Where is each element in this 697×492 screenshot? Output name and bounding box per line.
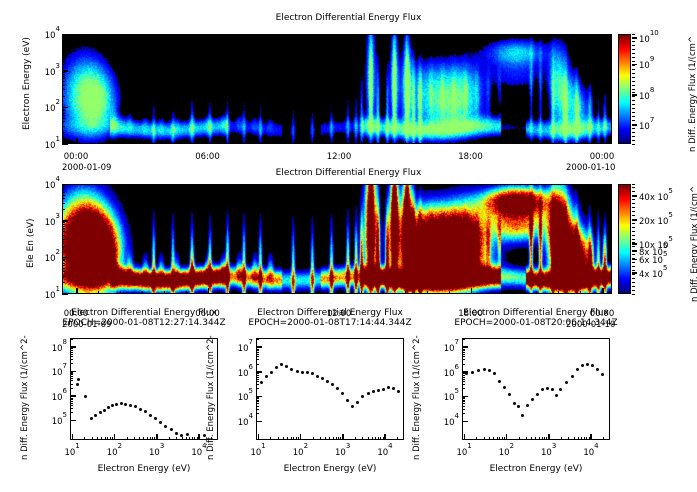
spectrum-2-data-point (521, 414, 524, 417)
spectrum-1-yminor (256, 349, 259, 350)
x-axis-minor-tick (471, 141, 472, 144)
x-axis-tick-label: 00:00 (585, 152, 619, 162)
spectrum-ylabel-1: n Diff. Energy Flux (1/(cm^2- (206, 335, 216, 460)
y-axis-minor-tick (62, 239, 65, 240)
spectrum-0-data-point (180, 434, 183, 437)
spectrum-1-ytick-label: 105 (226, 390, 253, 403)
spectrum-ylabel-2: n Diff. Energy Flux (1/(cm^2- (412, 335, 422, 460)
colorbar-minor-tick (632, 73, 635, 74)
colorbar-minor-tick (632, 227, 635, 228)
y-axis-tick (62, 294, 68, 296)
y-axis-minor-tick (62, 185, 65, 186)
x-axis-minor-tick (186, 291, 187, 294)
spectrum-0-data-point (107, 406, 110, 409)
spectrum-0-xminor (110, 437, 111, 440)
y-axis-minor-tick (62, 48, 65, 49)
spectrum-1-xtick (342, 434, 344, 440)
colorbar-minor-tick (632, 239, 635, 240)
spectrum-1-yminor (256, 398, 259, 399)
spectrum-0-ytick-label: 107 (40, 365, 67, 378)
x-axis-minor-tick (558, 141, 559, 144)
spectrum-0-xminor (143, 437, 144, 440)
x-axis-minor-tick (492, 141, 493, 144)
spectrum-2-xminor (535, 437, 536, 440)
spectrum-1-xtick-label: 103 (327, 445, 359, 458)
spectrum-0-xminor (147, 437, 148, 440)
spectrum-0-data-point (186, 433, 189, 436)
spectrum-1-xminor (372, 437, 373, 440)
spectrum-1-yminor (256, 339, 259, 340)
spectrum-0-yminor (70, 376, 73, 377)
colorbar-tick-label: 109 (639, 58, 654, 71)
spectrum-0-yminor (70, 372, 73, 373)
x-axis-tick-label: 06:00 (191, 152, 225, 162)
x-axis-minor-tick (580, 291, 581, 294)
colorbar-minor-tick (632, 77, 635, 78)
y-axis-minor-tick (62, 89, 65, 90)
spectrum-2-xtick-label: 104 (575, 445, 607, 458)
spectrum-0-data-point (90, 417, 93, 420)
colorbar-minor-tick (632, 57, 635, 58)
spectrum-2-xminor (568, 437, 569, 440)
spectrum-1-data-point (346, 399, 349, 402)
x-axis-minor-tick (449, 291, 450, 294)
spectrum-1-xminor (325, 437, 326, 440)
colorbar-minor-tick (632, 274, 635, 275)
spectrum-2-yminor (462, 400, 465, 401)
x-axis-minor-tick (514, 141, 515, 144)
spectrum-0-xminor (105, 437, 106, 440)
spectrum-0-xminor (92, 437, 93, 440)
spectrogram-top-ylabel: Electron Energy (eV) (22, 37, 32, 130)
spectrum-0-yminor (70, 354, 73, 355)
y-axis-minor-tick (62, 259, 65, 260)
spectrum-2-yminor (462, 350, 465, 351)
spectrum-0-xminor (112, 437, 113, 440)
spectrum-plot-0[interactable] (70, 338, 218, 440)
x-axis-minor-tick (142, 141, 143, 144)
spectrum-1-yminor (256, 400, 259, 401)
y-axis-minor-tick (62, 260, 65, 261)
spectrum-2-yminor (462, 381, 465, 382)
spectrum-1-yminor (256, 401, 259, 402)
spectrum-2-yminor (462, 413, 465, 414)
spectrum-0-xtick (156, 434, 158, 440)
x-axis-minor-tick (186, 141, 187, 144)
spectrum-2-yminor (462, 339, 465, 340)
spectrum-2-xminor (497, 437, 498, 440)
colorbar-minor-tick (632, 100, 635, 101)
spectrum-1-xminor (296, 437, 297, 440)
spectrum-0-data-point (170, 428, 173, 431)
spectrum-2-data-point (477, 369, 480, 372)
spectrum-0-yminor (70, 399, 73, 400)
spectrum-xlabel-0: Electron Energy (eV) (70, 464, 218, 474)
spectrum-2-xminor (531, 437, 532, 440)
spectrum-1-xtick (258, 434, 260, 440)
y-axis-tick-label: 103 (36, 215, 60, 228)
x-axis-minor-tick (602, 291, 603, 294)
spectrum-ylabel-0: n Diff. Energy Flux (1/(cm^2- (20, 335, 30, 460)
spectrum-1-yminor (256, 381, 259, 382)
colorbar-minor-tick (632, 120, 635, 121)
spectrum-2-yminor (462, 401, 465, 402)
colorbar-minor-tick (632, 231, 635, 232)
spectrum-1-xminor (340, 437, 341, 440)
colorbar-minor-tick (632, 184, 635, 185)
spectrogram-mid-plot[interactable] (62, 184, 612, 294)
colorbar-minor-tick (632, 215, 635, 216)
y-axis-minor-tick (62, 121, 65, 122)
y-axis-minor-tick (62, 110, 65, 111)
x-axis-minor-tick (295, 141, 296, 144)
spectrum-2-xminor (578, 437, 579, 440)
spectrum-xlabel-1: Electron Energy (eV) (256, 464, 404, 474)
spectrum-0-yminor (70, 352, 73, 353)
x-axis-minor-tick (514, 291, 515, 294)
x-axis-minor-tick (580, 141, 581, 144)
spectrum-1-xtick (384, 434, 386, 440)
spectrum-title-2: Electron Differential Energy Flux (394, 308, 678, 318)
spectrum-1-data-point (382, 388, 385, 391)
spectrum-1-yminor (256, 359, 259, 360)
spectrum-0-yminor (70, 339, 73, 340)
x-axis-minor-tick (164, 291, 165, 294)
x-axis-minor-tick (361, 291, 362, 294)
spectrum-1-xminor (287, 437, 288, 440)
spectrogram-top-plot[interactable] (62, 34, 612, 144)
colorbar-tick-label: 20x 105 (639, 214, 673, 227)
spectrum-0-yminor (70, 403, 73, 404)
spectrum-1-yminor (256, 347, 259, 348)
spectrum-0-xminor (150, 437, 151, 440)
y-axis-minor-tick (62, 265, 65, 266)
spectrum-2-yminor (462, 397, 465, 398)
spectrum-2-data-point (471, 371, 474, 374)
y-axis-minor-tick (62, 42, 65, 43)
spectrum-1-xminor (338, 437, 339, 440)
colorbar-minor-tick (632, 112, 635, 113)
colorbar-minor-tick (632, 89, 635, 90)
spectrum-0-xminor (84, 437, 85, 440)
spectrum-1-yminor (256, 352, 259, 353)
x-axis-minor-tick (76, 141, 77, 144)
spectrum-epoch-2: EPOCH=2000-01-08T20:06:14.344Z (394, 318, 678, 328)
spectrum-1-yminor (256, 354, 259, 355)
y-axis-minor-tick (62, 78, 65, 79)
spectrum-2-xtick-label: 101 (448, 445, 480, 458)
spectrum-2-xtick-label: 102 (490, 445, 522, 458)
spectrum-2-xtick (590, 434, 592, 440)
spectrum-0-data-point (76, 383, 79, 386)
x-axis-minor-tick (208, 141, 209, 144)
spectrum-1-data-point (321, 377, 324, 380)
spectrum-2-yminor (462, 398, 465, 399)
spectrum-2-xminor (561, 437, 562, 440)
x-axis-minor-tick (536, 141, 537, 144)
spectrum-2-yminor (462, 403, 465, 404)
spectrogram-mid-colorbar (618, 184, 631, 294)
x-axis-minor-tick (273, 291, 274, 294)
x-axis-minor-tick (339, 141, 340, 144)
spectrum-2-data-point (591, 364, 594, 367)
y-axis-minor-tick (62, 85, 65, 86)
spectrum-2-xminor (603, 437, 604, 440)
y-axis-minor-tick (62, 126, 65, 127)
spectrum-0-xminor (139, 437, 140, 440)
spectrum-2-data-point (498, 380, 501, 383)
y-axis-tick-label: 104 (36, 178, 60, 191)
y-axis-minor-tick (62, 276, 65, 277)
spectrum-1-ytick-label: 104 (226, 415, 253, 428)
x-axis-minor-tick (383, 291, 384, 294)
spectrum-2-yminor (462, 354, 465, 355)
x-axis-minor-tick (427, 291, 428, 294)
spectrum-0-yminor (70, 384, 73, 385)
y-axis-minor-tick (62, 246, 65, 247)
colorbar-minor-tick (632, 262, 635, 263)
y-axis-tick-label: 102 (36, 101, 60, 114)
colorbar-minor-tick (632, 41, 635, 42)
spectrum-0-xminor (176, 437, 177, 440)
spectrum-1-data-point (296, 370, 299, 373)
spectrum-0-xminor (197, 437, 198, 440)
y-axis-minor-tick (62, 109, 65, 110)
x-axis-minor-tick (164, 141, 165, 144)
colorbar-minor-tick (632, 34, 635, 35)
spectrum-1-yminor (256, 372, 259, 373)
colorbar-minor-tick (632, 37, 635, 38)
colorbar-minor-tick (632, 69, 635, 70)
spectrum-1-xminor (355, 437, 356, 440)
spectrum-0-xtick (72, 434, 74, 440)
spectrum-1-data-point (301, 371, 304, 374)
y-axis-tick (62, 144, 68, 146)
x-axis-minor-tick (120, 291, 121, 294)
colorbar-minor-tick (632, 203, 635, 204)
colorbar-minor-tick (632, 258, 635, 259)
colorbar-minor-tick (632, 65, 635, 66)
spectrum-1-data-point (387, 386, 390, 389)
spectrum-0-data-point (129, 404, 132, 407)
colorbar-minor-tick (632, 278, 635, 279)
spectrum-1-xtick-label: 101 (242, 445, 274, 458)
x-axis-minor-tick (405, 141, 406, 144)
colorbar-minor-tick (632, 211, 635, 212)
x-axis-tick-label: 18:00 (454, 152, 488, 162)
y-axis-minor-tick (62, 222, 65, 223)
spectrogram-mid-title: Electron Differential Energy Flux (0, 168, 697, 178)
spectrum-2-ytick-label: 105 (432, 390, 459, 403)
y-axis-minor-tick (62, 39, 65, 40)
spectrum-1-xminor (313, 437, 314, 440)
spectrum-2-xminor (542, 437, 543, 440)
y-axis-minor-tick (62, 132, 65, 133)
colorbar-minor-tick (632, 286, 635, 287)
spectrum-1-yminor (256, 375, 259, 376)
x-axis-minor-tick (449, 141, 450, 144)
spectrum-1-data-point (316, 375, 319, 378)
spectrum-2-xminor (519, 437, 520, 440)
spectrum-1-xtick (300, 434, 302, 440)
spectrum-0-yminor (70, 401, 73, 402)
y-axis-minor-tick (62, 113, 65, 114)
spectrum-2-ytick (462, 421, 468, 423)
spectrum-0-xminor (186, 437, 187, 440)
spectrum-1-xminor (298, 437, 299, 440)
x-axis-minor-tick (361, 141, 362, 144)
spectrum-1-yminor (256, 397, 259, 398)
spectrum-2-ytick-label: 104 (432, 415, 459, 428)
spectrum-1-data-point (306, 371, 309, 374)
y-axis-minor-tick (62, 271, 65, 272)
spectrum-1-data-point (311, 372, 314, 375)
spectrum-0-yminor (70, 396, 73, 397)
spectrum-2-xminor (581, 437, 582, 440)
spectrum-1-yminor (256, 350, 259, 351)
spectrum-1-data-point (270, 371, 273, 374)
spectrum-2-yminor (462, 388, 465, 389)
spectrum-1-xminor (333, 437, 334, 440)
x-axis-minor-tick (229, 291, 230, 294)
spectrum-2-xminor (502, 437, 503, 440)
spectrum-0-yminor (70, 374, 73, 375)
colorbar-minor-tick (632, 104, 635, 105)
y-axis-minor-tick (62, 263, 65, 264)
spectrum-0-yminor (70, 412, 73, 413)
spectrum-xlabel-2: Electron Energy (eV) (462, 464, 610, 474)
y-axis-minor-tick (62, 198, 65, 199)
spectrum-1-xtick-label: 102 (284, 445, 316, 458)
spectrum-0-yminor (70, 373, 73, 374)
spectrum-2-xminor (493, 437, 494, 440)
spectrum-0-ytick-label: 105 (40, 414, 67, 427)
colorbar-minor-tick (632, 92, 635, 93)
x-axis-minor-tick (317, 141, 318, 144)
spectrum-1-yminor (256, 379, 259, 380)
colorbar-tick-label: 108 (639, 89, 654, 102)
x-axis-minor-tick (383, 141, 384, 144)
colorbar-minor-tick (632, 290, 635, 291)
spectrum-0-yminor (70, 380, 73, 381)
spectrum-plot-2[interactable] (462, 338, 610, 440)
spectrum-2-data-point (551, 388, 554, 391)
y-axis-minor-tick (62, 195, 65, 196)
spectrum-0-xtick-label: 102 (98, 445, 130, 458)
x-axis-minor-tick (229, 141, 230, 144)
spectrum-1-yminor (256, 384, 259, 385)
x-axis-minor-tick (98, 141, 99, 144)
spectrum-2-yminor (462, 347, 465, 348)
spectrum-1-ytick-label: 107 (226, 341, 253, 354)
spectrum-2-xminor (544, 437, 545, 440)
spectrum-2-xminor (589, 437, 590, 440)
colorbar-minor-tick (632, 132, 635, 133)
colorbar-tick-label: 107 (639, 119, 654, 132)
spectrum-0-xminor (107, 437, 108, 440)
x-axis-minor-tick (142, 291, 143, 294)
spectrum-2-xtick (548, 434, 550, 440)
colorbar-minor-tick (632, 81, 635, 82)
spectrum-1-xminor (291, 437, 292, 440)
spectrum-0-yminor (70, 378, 73, 379)
spectrum-0-xminor (101, 437, 102, 440)
spectrogram-top-title: Electron Differential Energy Flux (0, 13, 697, 23)
spectrum-1-data-point (326, 380, 329, 383)
spectrum-1-yminor (256, 403, 259, 404)
y-axis-minor-tick (62, 81, 65, 82)
colorbar-minor-tick (632, 195, 635, 196)
colorbar-minor-tick (632, 207, 635, 208)
spectrum-2-xminor (574, 437, 575, 440)
spectrum-1-xminor (383, 437, 384, 440)
spectrum-1-yminor (256, 356, 259, 357)
spectrum-1-data-point (260, 381, 263, 384)
x-axis-minor-tick (295, 291, 296, 294)
colorbar-tick-label: 4x 105 (639, 267, 667, 280)
colorbar-minor-tick (632, 96, 635, 97)
colorbar-minor-tick (632, 266, 635, 267)
spectrum-0-data-point (103, 409, 106, 412)
spectrum-2-xminor (484, 437, 485, 440)
spectrum-0-yminor (70, 347, 73, 348)
x-axis-minor-tick (317, 291, 318, 294)
spectrogram-top-colorbar (618, 34, 631, 144)
colorbar-minor-tick (632, 136, 635, 137)
spectrum-0-yminor (70, 348, 73, 349)
spectrum-2-yminor (462, 384, 465, 385)
y-axis-minor-tick (62, 115, 65, 116)
spectrum-1-xminor (278, 437, 279, 440)
x-axis-minor-tick (98, 291, 99, 294)
colorbar-minor-tick (632, 140, 635, 141)
colorbar-tick (632, 94, 637, 96)
spectrum-1-xminor (270, 437, 271, 440)
spectrum-1-yminor (256, 406, 259, 407)
y-axis-minor-tick (62, 76, 65, 77)
spectrum-0-yminor (70, 408, 73, 409)
spectrum-1-yminor (256, 413, 259, 414)
x-axis-minor-tick (602, 141, 603, 144)
x-axis-tick-label: 00:00 (59, 152, 93, 162)
spectrum-2-xminor (539, 437, 540, 440)
y-axis-tick-label: 102 (36, 251, 60, 264)
spectrum-1-xminor (380, 437, 381, 440)
x-axis-minor-tick (492, 291, 493, 294)
x-axis-minor-tick (76, 291, 77, 294)
spectrum-1-data-point (392, 387, 395, 390)
spectrum-1-xminor (320, 437, 321, 440)
spectrum-2-data-point (581, 364, 584, 367)
spectrum-2-data-point (596, 368, 599, 371)
spectrum-2-data-point (513, 402, 516, 405)
colorbar-minor-tick (632, 282, 635, 283)
colorbar-minor-tick (632, 116, 635, 117)
spectrum-0-xminor (152, 437, 153, 440)
spectrum-0-yminor (70, 388, 73, 389)
spectrum-0-xminor (134, 437, 135, 440)
colorbar-minor-tick (632, 45, 635, 46)
y-axis-minor-tick (62, 189, 65, 190)
spectrum-1-xtick-label: 104 (369, 445, 401, 458)
spectrum-0-xminor (154, 437, 155, 440)
spectrum-2-xtick (464, 434, 466, 440)
colorbar-minor-tick (632, 242, 635, 243)
colorbar-minor-tick (632, 128, 635, 129)
spectrum-0-yminor (70, 363, 73, 364)
colorbar-minor-tick (632, 49, 635, 50)
spectrum-2-data-point (559, 388, 562, 391)
